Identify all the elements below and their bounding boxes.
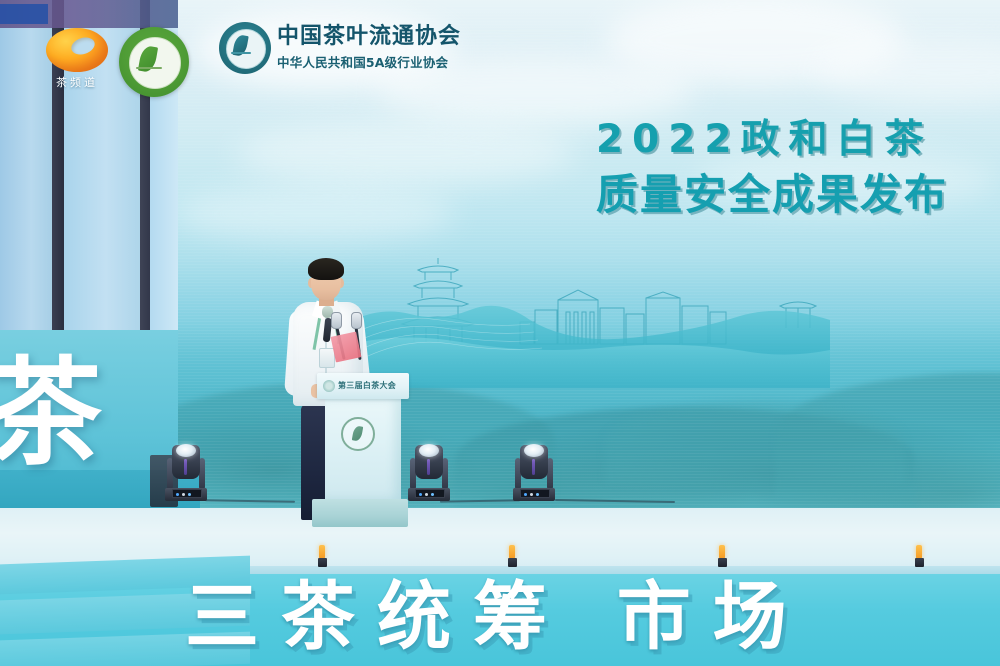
uplight-fixture (915, 545, 924, 567)
gooseneck-mic-head (331, 312, 342, 329)
blue-sign-fragment (0, 4, 48, 24)
conference-stage-photo: 2022政和白茶 质量安全成果发布 茶 茶频道 中国茶叶流通协会 中华人民共和国… (0, 0, 1000, 666)
green-leaf-seal-icon (119, 27, 189, 97)
gooseneck-mic-head (351, 312, 362, 329)
association-seal-icon (219, 22, 271, 74)
moving-head-light (408, 443, 450, 501)
association-subtitle: 中华人民共和国5A级行业协会 (277, 52, 461, 71)
speaker-podium: 第三届白茶大会 (317, 373, 409, 523)
document-on-podium (331, 332, 362, 363)
podium-small-seal-icon (323, 380, 335, 392)
event-title-line2: 质量安全成果发布 (596, 169, 1000, 222)
uplight-fixture (318, 545, 327, 567)
podium-label-text: 第三届白茶大会 (338, 380, 396, 391)
uplight-fixture (508, 545, 517, 567)
moving-head-light (165, 443, 207, 501)
association-text-block: 中国茶叶流通协会 中华人民共和国5A级行业协会 (277, 24, 461, 71)
front-banner-text: 三茶统筹 市场 (185, 580, 809, 654)
cloud-decor (175, 185, 455, 243)
association-name: 中国茶叶流通协会 (277, 24, 461, 49)
left-decor-character: 茶 (0, 356, 102, 472)
tea-channel-label: 茶频道 (38, 74, 116, 90)
moving-head-light (513, 443, 555, 501)
event-title-line1: 2022政和白茶 (596, 118, 1000, 163)
uplight-fixture (718, 545, 727, 567)
orange-swirl-icon (46, 28, 108, 72)
podium-label: 第三届白茶大会 (323, 378, 403, 393)
tea-channel-logo: 茶频道 (38, 26, 116, 94)
leaf-circle-seal-icon (341, 417, 375, 451)
cloud-decor (235, 120, 575, 186)
event-title-block: 2022政和白茶 质量安全成果发布 (596, 118, 1000, 221)
